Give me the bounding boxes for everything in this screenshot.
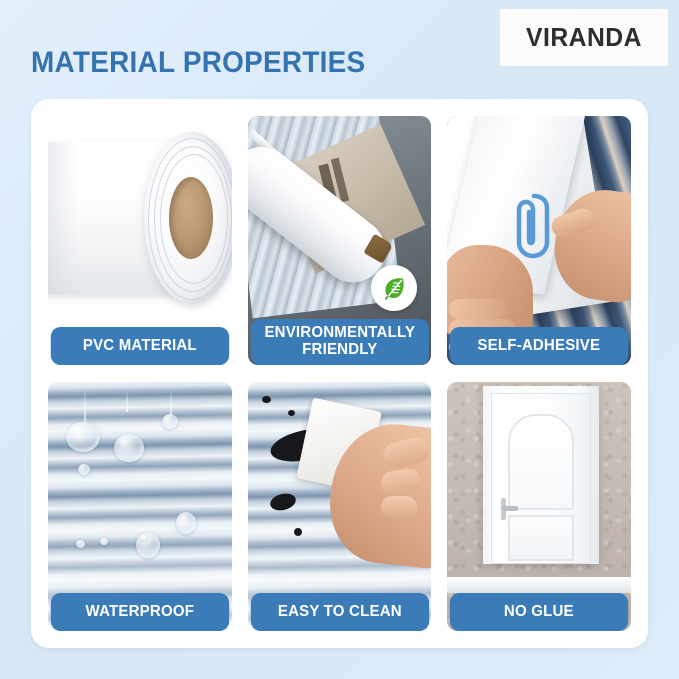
label-line-2: FRIENDLY xyxy=(302,341,377,358)
water-droplet xyxy=(114,434,144,462)
dirt-mark xyxy=(294,528,302,536)
water-droplet xyxy=(78,464,90,475)
water-droplet xyxy=(66,422,100,452)
feature-cell-environmentally-friendly[interactable]: ENVIRONMENTALLY FRIENDLY xyxy=(248,116,432,365)
feature-label-easy-to-clean: EASY TO CLEAN xyxy=(250,593,428,631)
water-droplet xyxy=(76,540,85,548)
feature-cell-waterproof[interactable]: WATERPROOF xyxy=(48,382,232,631)
droplet-trail xyxy=(126,390,128,412)
baseboard xyxy=(447,577,631,593)
brand-name: VIRANDA xyxy=(526,22,642,53)
pvc-roll-illustration xyxy=(48,132,232,307)
feature-cell-pvc-material[interactable]: PVC MATERIAL xyxy=(48,116,232,365)
feature-cell-no-glue[interactable]: NO GLUE xyxy=(447,382,631,631)
door-frame xyxy=(483,386,599,564)
droplet-trail xyxy=(170,388,172,416)
feature-label-waterproof: WATERPROOF xyxy=(51,593,229,631)
feature-label-pvc-material: PVC MATERIAL xyxy=(51,327,229,365)
leaf-icon xyxy=(380,274,408,302)
dirt-mark xyxy=(288,410,295,416)
features-grid: PVC MATERIAL xyxy=(48,116,631,631)
water-droplet xyxy=(140,534,147,540)
water-droplet xyxy=(100,538,108,545)
dirt-mark xyxy=(262,396,271,403)
brand-logo-box: VIRANDA xyxy=(500,9,668,66)
feature-cell-self-adhesive[interactable]: SELF-ADHESIVE xyxy=(447,116,631,365)
infographic-root: MATERIAL PROPERTIES VIRANDA PVC MATERIA xyxy=(0,0,679,679)
door-slab xyxy=(491,393,591,564)
feature-label-self-adhesive: SELF-ADHESIVE xyxy=(450,327,628,365)
roll-cardboard-core xyxy=(169,177,213,259)
water-droplet xyxy=(176,512,196,534)
eco-leaf-badge xyxy=(371,265,417,311)
door-panel-top xyxy=(508,414,574,510)
label-line-1: ENVIRONMENTALLY xyxy=(264,324,415,341)
door-handle xyxy=(502,506,518,511)
feature-cell-easy-to-clean[interactable]: EASY TO CLEAN xyxy=(248,382,432,631)
finger xyxy=(449,299,505,319)
features-card: PVC MATERIAL xyxy=(31,99,648,648)
page-title: MATERIAL PROPERTIES xyxy=(31,46,365,80)
door-panel-bottom xyxy=(508,515,574,561)
feature-label-environmentally-friendly: ENVIRONMENTALLY FRIENDLY xyxy=(250,319,428,365)
droplet-trail xyxy=(84,386,86,426)
water-droplet xyxy=(162,414,178,429)
feature-label-no-glue: NO GLUE xyxy=(450,593,628,631)
finger xyxy=(381,496,417,518)
